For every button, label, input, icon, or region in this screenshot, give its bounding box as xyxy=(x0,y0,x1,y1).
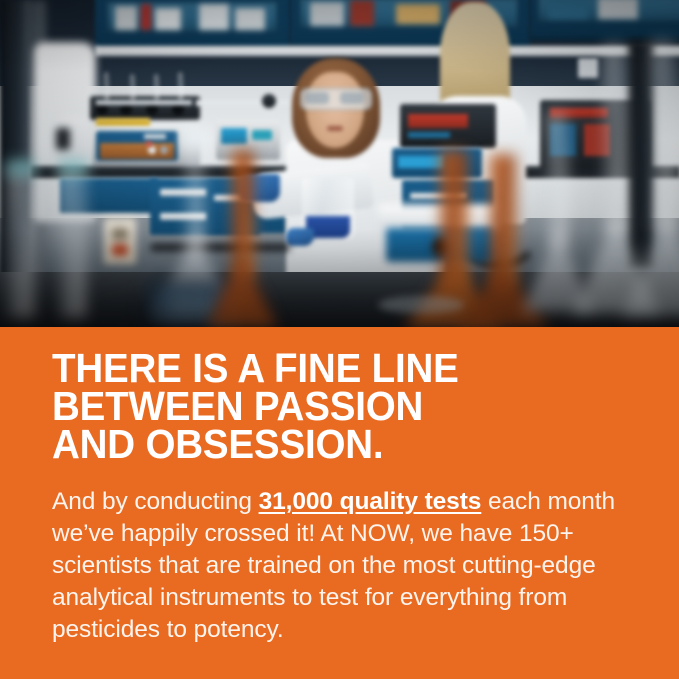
glass-rod-stand xyxy=(96,100,192,105)
body-copy-segment-1: And by conducting xyxy=(52,488,259,515)
orange-copy-panel: THERE IS A FINE LINE BETWEEN PASSION AND… xyxy=(0,327,679,679)
scientist-foreground-mouth xyxy=(327,126,343,131)
blue-glove-icon-2 xyxy=(286,228,314,246)
cylinder-2-cap xyxy=(58,160,88,176)
instrument-rack-right xyxy=(400,104,496,148)
glass-rod-2 xyxy=(130,74,135,102)
body-copy: And by conducting 31,000 quality tests e… xyxy=(52,486,627,646)
petri-dish xyxy=(378,296,464,314)
instrument-blue-right xyxy=(392,148,482,178)
wall-socket-right xyxy=(578,58,598,78)
clear-flask-neck-right-1 xyxy=(604,44,628,234)
clear-flask-body-center xyxy=(522,230,594,312)
advertisement-creative: THERE IS A FINE LINE BETWEEN PASSION AND… xyxy=(0,0,679,679)
cylinder-1-cap xyxy=(6,160,36,176)
glass-rod-3 xyxy=(154,74,159,102)
instrument-indicator-red xyxy=(146,142,152,146)
scientist-left-hand-object xyxy=(56,128,70,150)
cabinet-under-rail xyxy=(95,46,679,56)
highlight-quality-tests: 31,000 quality tests xyxy=(259,488,482,515)
instrument-knob-a xyxy=(148,146,156,154)
graduated-cylinder-1 xyxy=(8,168,34,318)
overhead-cabinet-right xyxy=(530,0,679,41)
instrument-knob-b xyxy=(160,146,168,154)
glass-rod-1 xyxy=(104,72,109,102)
graduated-cylinder-2 xyxy=(60,168,86,318)
clear-flask-neck-right-2 xyxy=(652,40,676,230)
volumetric-flask-stopper xyxy=(182,128,208,146)
lab-photo xyxy=(0,0,679,327)
clear-flask-body-right-2 xyxy=(622,212,679,316)
goggles-lens-right xyxy=(340,92,364,104)
goggles-lens-left xyxy=(305,92,329,104)
glass-rod-4 xyxy=(178,72,183,102)
clear-flask-neck-center xyxy=(548,112,568,248)
power-outlet xyxy=(104,218,136,264)
scientist-foreground-face xyxy=(306,72,364,148)
wall-sensor-center xyxy=(262,94,276,108)
amber-flask-body-1 xyxy=(206,258,278,327)
page-title: THERE IS A FINE LINE BETWEEN PASSION AND… xyxy=(52,349,616,463)
instrument-yellow-strip xyxy=(96,118,150,127)
